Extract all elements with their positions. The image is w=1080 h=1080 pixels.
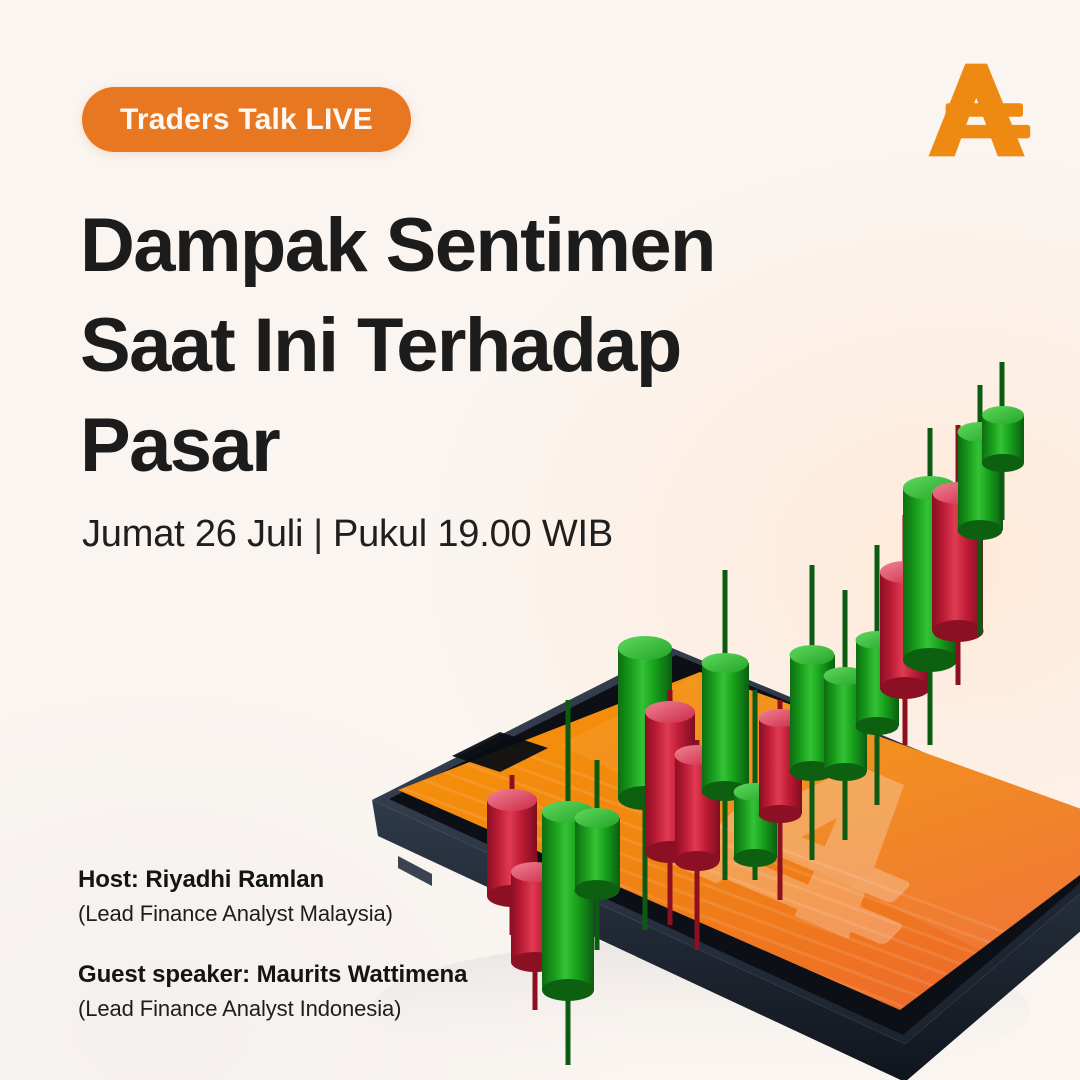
live-badge-label: Traders Talk LIVE [120, 103, 373, 137]
page-title: Dampak Sentimen Saat Ini Terhadap Pasar [80, 196, 820, 496]
guest-name: Guest speaker: Maurits Wattimena [78, 961, 598, 989]
host-credit: Host: Riyadhi Ramlan (Lead Finance Analy… [78, 866, 598, 927]
poster-canvas: Traders Talk LIVE Dampak Sentimen Saat I… [0, 0, 1080, 1080]
guest-role: (Lead Finance Analyst Indonesia) [78, 996, 598, 1022]
poster-content: Traders Talk LIVE Dampak Sentimen Saat I… [0, 0, 1080, 1080]
headline-line-2: Saat Ini Terhadap [80, 296, 820, 396]
schedule-time: Pukul 19.00 WIB [333, 513, 613, 555]
headline-line-1: Dampak Sentimen [80, 196, 820, 296]
schedule-line: Jumat 26 Juli|Pukul 19.00 WIB [82, 513, 613, 556]
brand-logo-icon [924, 58, 1032, 162]
host-role: (Lead Finance Analyst Malaysia) [78, 901, 598, 927]
headline-line-3: Pasar [80, 396, 820, 496]
schedule-separator: | [303, 513, 333, 556]
schedule-date: Jumat 26 Juli [82, 513, 303, 555]
host-name: Host: Riyadhi Ramlan [78, 866, 598, 894]
guest-credit: Guest speaker: Maurits Wattimena (Lead F… [78, 961, 598, 1022]
live-badge: Traders Talk LIVE [82, 87, 411, 152]
credits-block: Host: Riyadhi Ramlan (Lead Finance Analy… [78, 866, 598, 1022]
